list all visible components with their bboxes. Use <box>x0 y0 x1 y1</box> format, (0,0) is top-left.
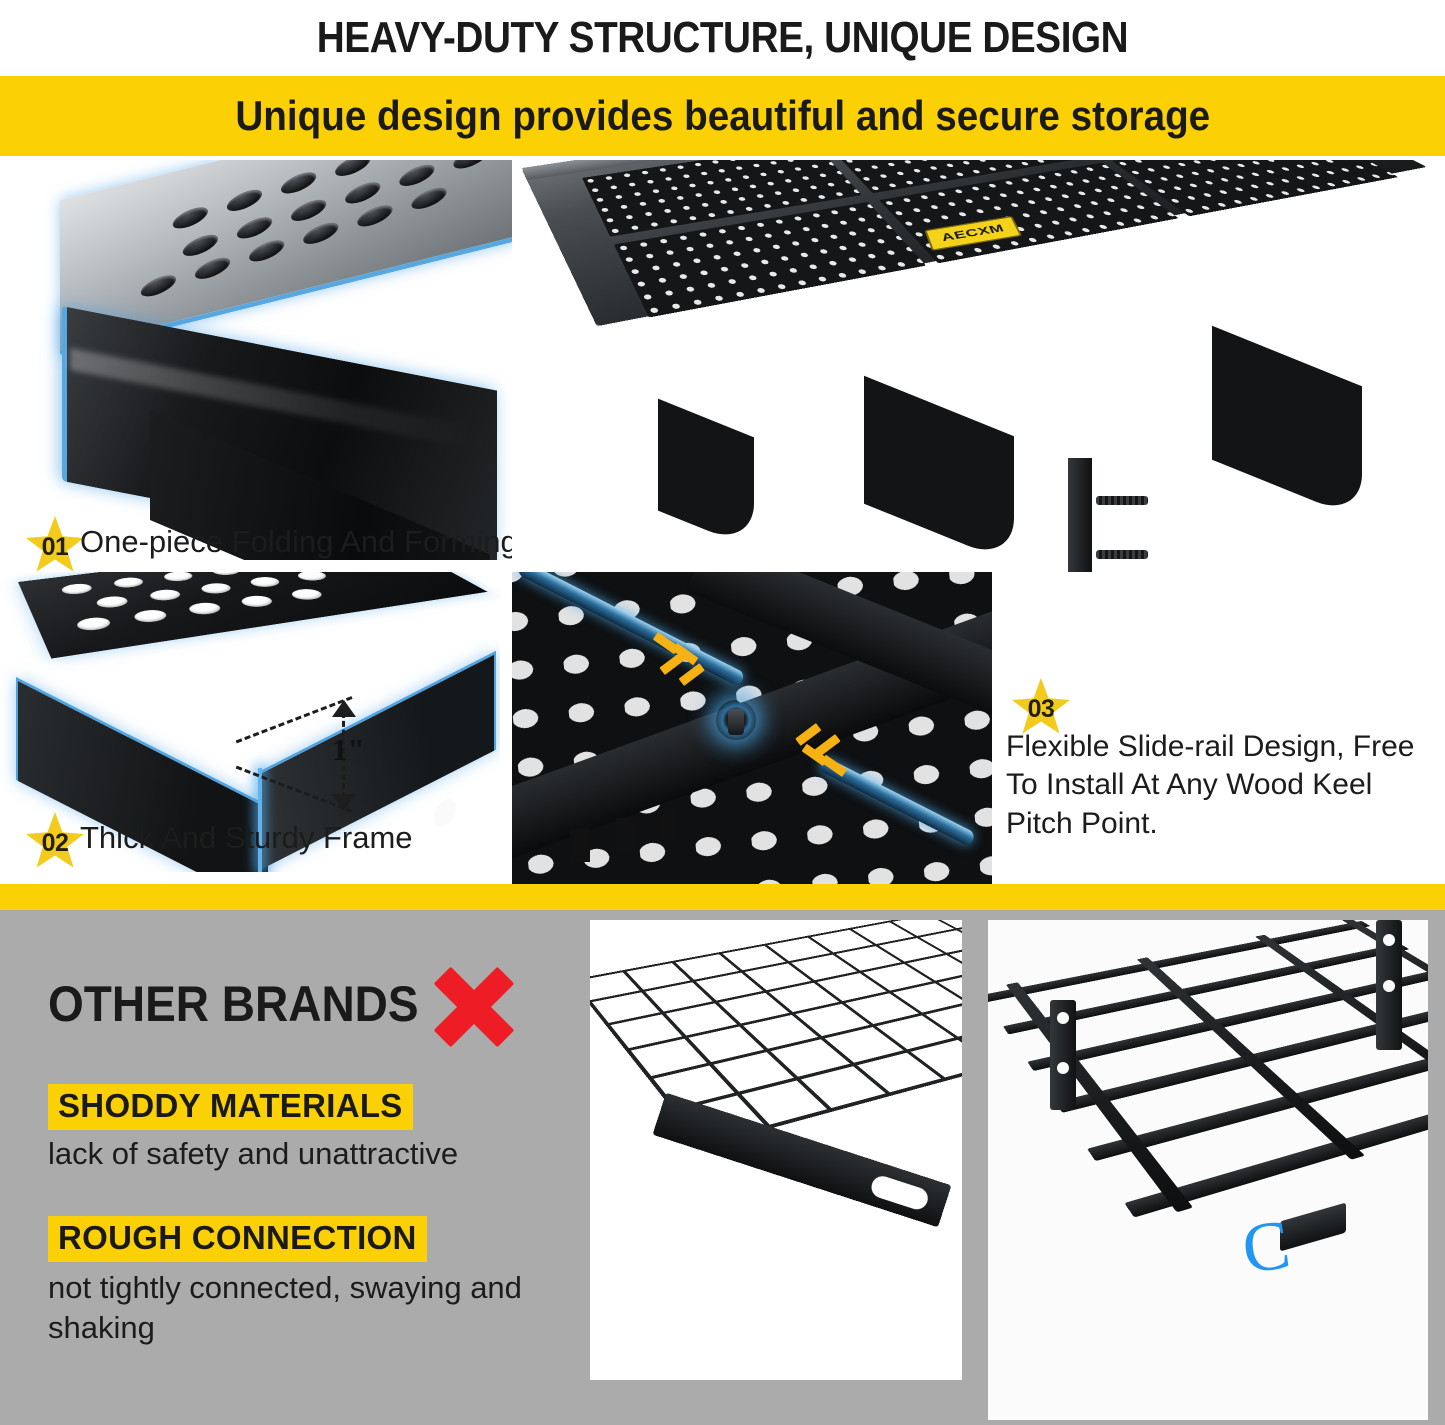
photo-one-piece-channel <box>0 160 512 560</box>
x-mark-icon <box>432 966 520 1048</box>
subtitle-band: Unique design provides beautiful and sec… <box>0 76 1445 156</box>
comparison-title: OTHER BRANDS <box>48 975 419 1033</box>
rack-bolt-lower <box>1096 550 1148 559</box>
comparison-label-2: ROUGH CONNECTION <box>48 1216 427 1262</box>
rack-bracket-right <box>1212 326 1362 521</box>
rail-bracket-1 <box>570 828 590 862</box>
comparison-description-2: not tightly connected, swaying and shaki… <box>48 1268 568 1349</box>
feature-number-02: 02 <box>42 829 69 858</box>
wall-bracket-left <box>1050 1000 1076 1110</box>
corner-side-hole <box>434 794 456 831</box>
feature-caption-01: One-piece Folding And Forming <box>80 524 518 560</box>
photo-flat-bar-rack: C <box>988 920 1428 1420</box>
dimension-value: 1" <box>332 732 365 768</box>
bar-connector-block <box>1280 1203 1346 1252</box>
rail-bracket-2 <box>616 818 636 852</box>
feature-caption-03: Flexible Slide-rail Design, Free To Inst… <box>1006 728 1426 843</box>
rack-bracket-left <box>658 399 754 550</box>
c-clip-annotation-icon: C <box>1238 1205 1295 1291</box>
rack-bolt-upper <box>1096 496 1148 505</box>
photo-wire-mesh-shelf <box>590 920 962 1380</box>
dimension-annotation: 1" <box>300 690 420 820</box>
rack-vertical-post <box>1068 458 1092 572</box>
page-title: HEAVY-DUTY STRUCTURE, UNIQUE DESIGN <box>87 0 1359 76</box>
wall-bracket-right <box>1376 920 1402 1050</box>
feature-number-03: 03 <box>1028 695 1055 724</box>
feature-caption-02: Thick And Sturdy Frame <box>80 820 413 856</box>
photo-slide-rail-detail <box>512 572 992 885</box>
comparison-description-1: lack of safety and unattractive <box>48 1134 568 1174</box>
rail-screw-highlight <box>716 700 756 740</box>
infographic-page: HEAVY-DUTY STRUCTURE, UNIQUE DESIGN Uniq… <box>0 0 1445 1425</box>
comparison-label-1: SHODDY MATERIALS <box>48 1084 413 1130</box>
rail-bracket-3 <box>658 808 676 840</box>
rack-bracket-mid <box>864 376 1014 565</box>
photo-main-rack: AECXM <box>512 160 1445 572</box>
section-divider-band <box>0 884 1445 910</box>
feature-number-01: 01 <box>42 533 69 562</box>
page-subtitle: Unique design provides beautiful and sec… <box>235 92 1210 140</box>
